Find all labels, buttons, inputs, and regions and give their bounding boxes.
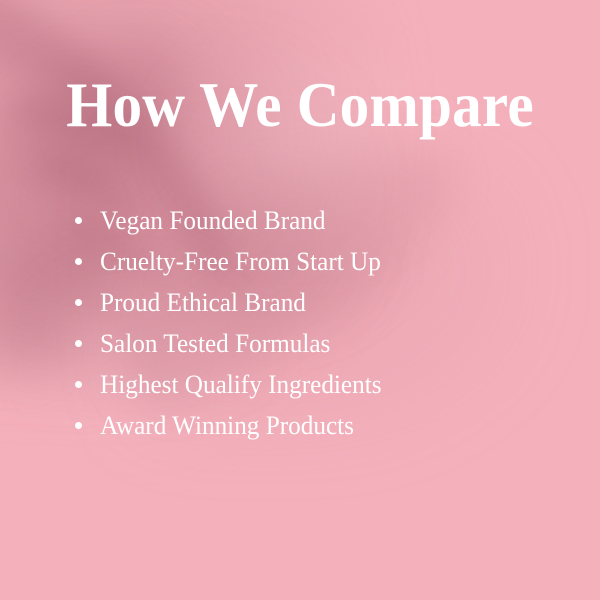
bullet-dot-icon (75, 340, 82, 347)
list-item: Highest Qualify Ingredients (72, 364, 572, 405)
bullet-dot-icon (75, 258, 82, 265)
feature-label: Highest Qualify Ingredients (100, 364, 382, 405)
list-item: Salon Tested Formulas (72, 323, 572, 364)
list-item: Cruelty-Free From Start Up (72, 241, 572, 282)
feature-list: Vegan Founded Brand Cruelty-Free From St… (72, 200, 572, 446)
bullet-dot-icon (75, 217, 82, 224)
poster-canvas: How We Compare Vegan Founded Brand Cruel… (0, 0, 600, 600)
feature-label: Cruelty-Free From Start Up (100, 241, 381, 282)
feature-label: Vegan Founded Brand (100, 200, 326, 241)
page-title: How We Compare (18, 74, 582, 137)
bullet-dot-icon (75, 381, 82, 388)
list-item: Vegan Founded Brand (72, 200, 572, 241)
feature-label: Salon Tested Formulas (100, 323, 330, 364)
bullet-dot-icon (75, 299, 82, 306)
poster-content: How We Compare Vegan Founded Brand Cruel… (0, 0, 600, 600)
list-item: Proud Ethical Brand (72, 282, 572, 323)
bullet-dot-icon (75, 422, 82, 429)
feature-label: Award Winning Products (100, 405, 354, 446)
list-item: Award Winning Products (72, 405, 572, 446)
feature-label: Proud Ethical Brand (100, 282, 306, 323)
